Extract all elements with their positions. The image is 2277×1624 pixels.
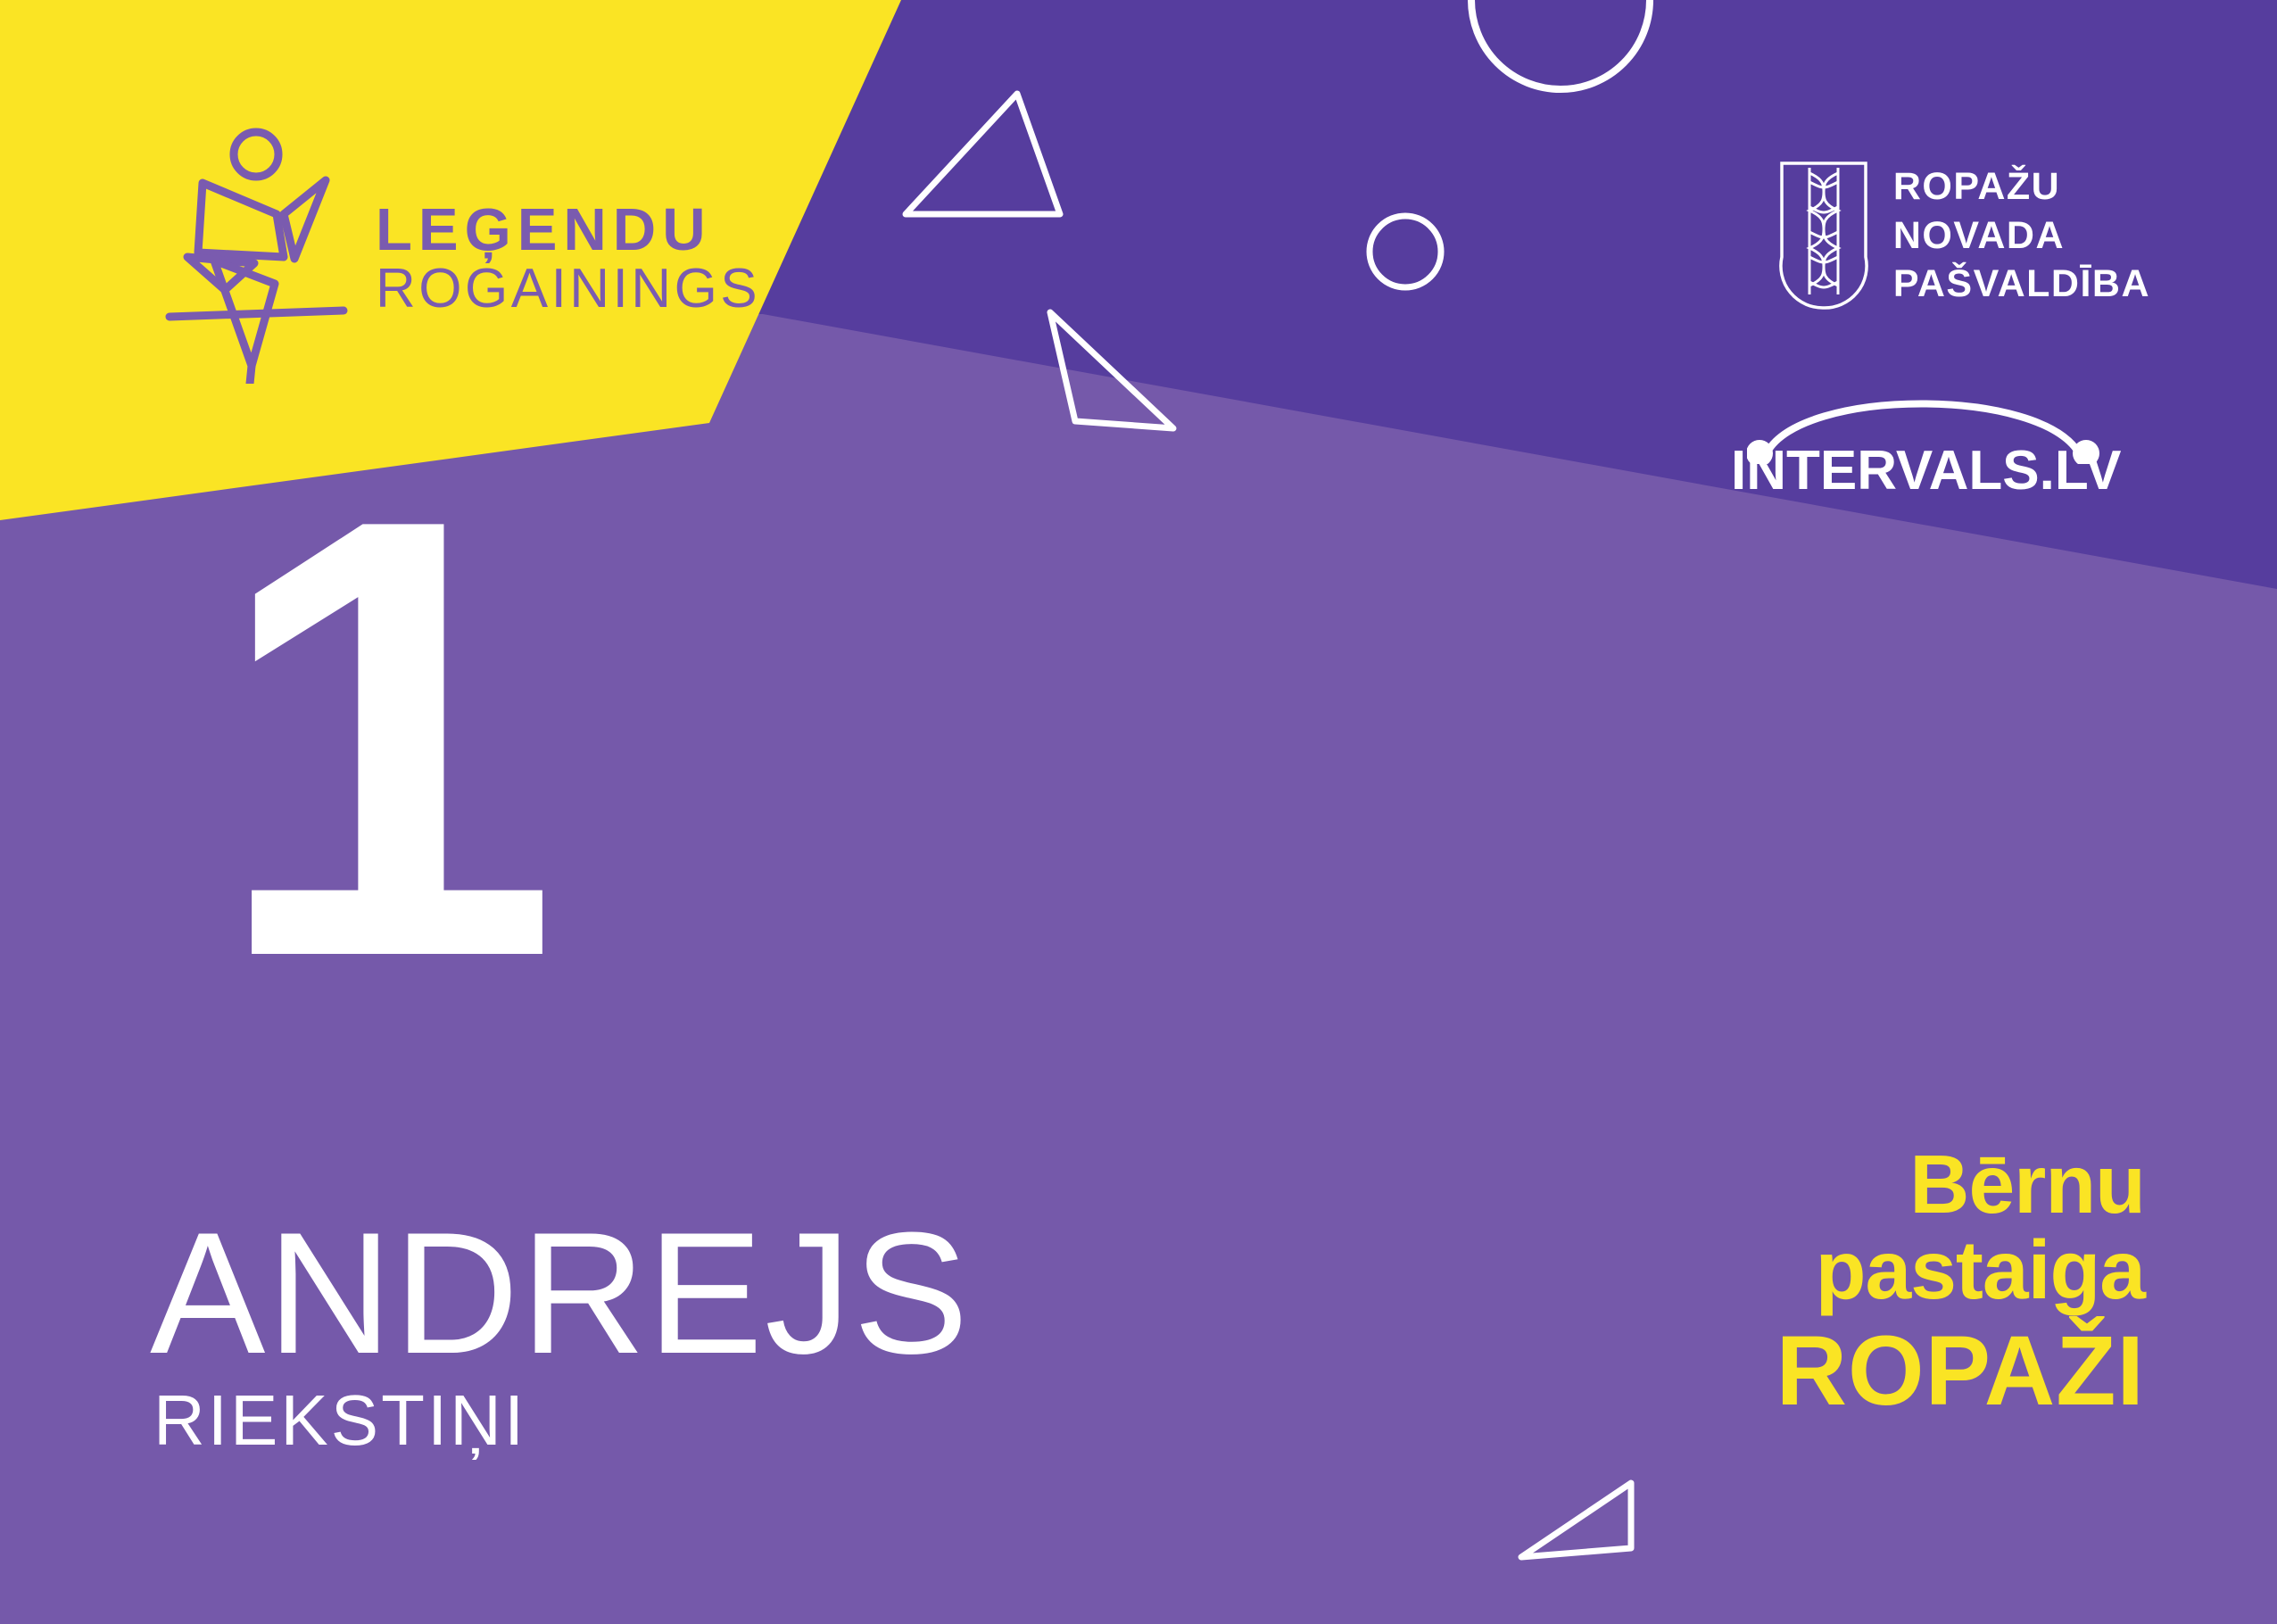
municipality-line-2: NOVADA xyxy=(1893,211,2150,261)
poster-canvas: LEĢENDU ROGAININGS ROPAŽU NOVADA PAŠVALD… xyxy=(0,0,2277,1624)
shield-coat-of-arms-icon xyxy=(1779,161,1868,311)
municipality-wordmark: ROPAŽU NOVADA PAŠVALDĪBA xyxy=(1893,162,2150,309)
control-point-name: ANDREJS xyxy=(150,1207,971,1380)
brand-wordmark: LEĢENDU ROGAININGS xyxy=(376,202,760,316)
brand-line-legendu: LEĢENDU xyxy=(376,202,760,259)
partner-logo-intervals: INTERVALS.LV xyxy=(1731,384,2150,509)
partner-name-label: INTERVALS.LV xyxy=(1731,439,2121,502)
municipality-line-1: ROPAŽU xyxy=(1893,162,2150,211)
municipality-logo: ROPAŽU NOVADA PAŠVALDĪBA xyxy=(1779,161,2150,311)
brand-line-rogainings: ROGAININGS xyxy=(376,262,760,316)
municipality-line-3: PAŠVALDĪBA xyxy=(1893,260,2150,309)
control-point-number: 1 xyxy=(212,482,551,994)
event-info-block: Bērnu pastaiga ROPAŽI xyxy=(1776,1142,2145,1421)
runner-figure-icon xyxy=(161,125,352,384)
event-place-label: ROPAŽI xyxy=(1776,1321,2145,1421)
event-title-line-2: pastaiga xyxy=(1776,1228,2145,1313)
brand-lockup: LEĢENDU ROGAININGS xyxy=(161,125,760,384)
event-title-line-1: Bērnu xyxy=(1776,1142,2145,1228)
control-point-subname: RIEKSTIŅI xyxy=(153,1385,526,1456)
